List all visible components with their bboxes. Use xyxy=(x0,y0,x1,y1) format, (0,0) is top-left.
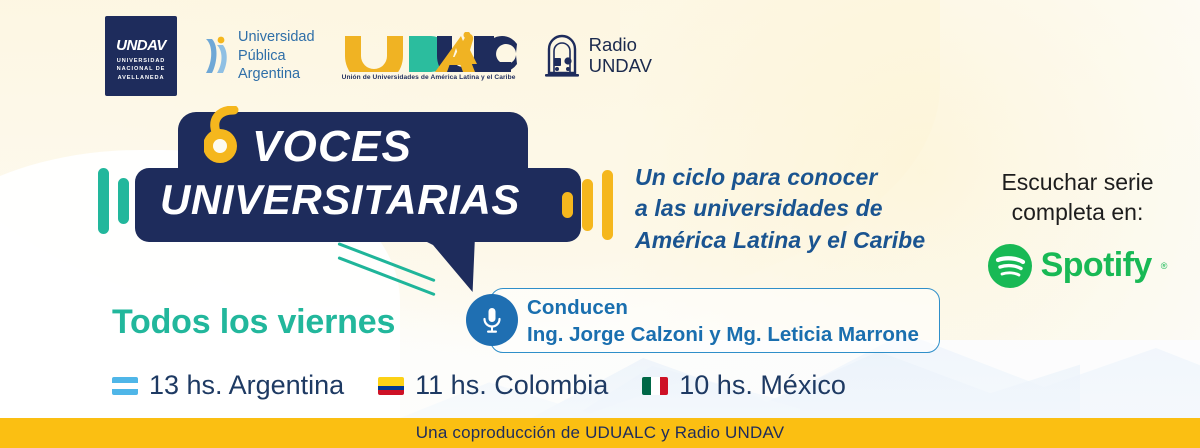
waveform-right xyxy=(562,170,613,240)
upa-mark-icon xyxy=(203,33,229,79)
spotify-logo[interactable]: Spotify ® xyxy=(955,244,1200,288)
tagline: Un ciclo para conocer a las universidade… xyxy=(635,162,925,256)
footer-bar: Una coproducción de UDUALC y Radio UNDAV xyxy=(0,418,1200,448)
hero-title-block: VOCES UNIVERSITARIAS xyxy=(100,112,660,282)
broadcast-times: 13 hs. Argentina 11 hs. Colombia 10 hs. … xyxy=(112,370,846,401)
spotify-registered-mark: ® xyxy=(1161,261,1168,271)
time-item-colombia: 11 hs. Colombia xyxy=(378,370,608,401)
time-item-argentina: 13 hs. Argentina xyxy=(112,370,344,401)
title-voces: VOCES xyxy=(252,122,412,172)
tail-accent-lines xyxy=(338,240,448,282)
logo-undav: UNDAV UNIVERSIDAD NACIONAL DE AVELLANEDA xyxy=(105,16,177,96)
title-universitarias: UNIVERSITARIAS xyxy=(160,176,520,224)
spotify-icon[interactable] xyxy=(988,244,1032,288)
upa-text: Universidad Pública Argentina xyxy=(238,28,315,84)
time-label-mexico: 10 hs. México xyxy=(679,370,846,401)
time-item-mexico: 10 hs. México xyxy=(642,370,846,401)
logo-universidad-publica-argentina: Universidad Pública Argentina xyxy=(203,28,315,84)
microphone-icon xyxy=(204,106,250,178)
svg-text:UNDAV: UNDAV xyxy=(116,37,168,53)
undav-subtitle: UNIVERSIDAD NACIONAL DE AVELLANEDA xyxy=(117,57,166,83)
hosts-text: Conducen Ing. Jorge Calzoni y Mg. Letici… xyxy=(527,296,919,347)
spotify-wordmark: Spotify xyxy=(1041,246,1152,285)
udualc-subtitle: Unión de Universidades de América Latina… xyxy=(342,74,516,81)
hosts-names: Ing. Jorge Calzoni y Mg. Leticia Marrone xyxy=(527,323,919,347)
time-label-argentina: 13 hs. Argentina xyxy=(149,370,344,401)
time-label-colombia: 11 hs. Colombia xyxy=(415,370,608,401)
undav-wordmark-icon: UNDAV xyxy=(112,36,170,53)
broadcast-day: Todos los viernes xyxy=(112,303,395,342)
spotify-cta[interactable]: Escuchar serie completa en: Spotify ® xyxy=(955,168,1200,288)
flag-argentina-icon xyxy=(112,377,138,395)
partner-logos: UNDAV UNIVERSIDAD NACIONAL DE AVELLANEDA… xyxy=(105,16,652,96)
udualc-wordmark-icon xyxy=(341,32,517,72)
flag-colombia-icon xyxy=(378,377,404,395)
spotify-label: Escuchar serie completa en: xyxy=(955,168,1200,228)
hosts-microphone-badge xyxy=(466,294,518,346)
logo-udualc: Unión de Universidades de América Latina… xyxy=(341,32,517,81)
footer-text: Una coproducción de UDUALC y Radio UNDAV xyxy=(416,423,785,443)
logo-radio-undav: Radio UNDAV xyxy=(543,33,652,79)
radio-undav-text: Radio UNDAV xyxy=(589,35,652,76)
hosts-title: Conducen xyxy=(527,296,919,320)
microphone-badge-icon xyxy=(479,305,505,335)
radio-icon xyxy=(543,33,581,79)
flag-mexico-icon xyxy=(642,377,668,395)
